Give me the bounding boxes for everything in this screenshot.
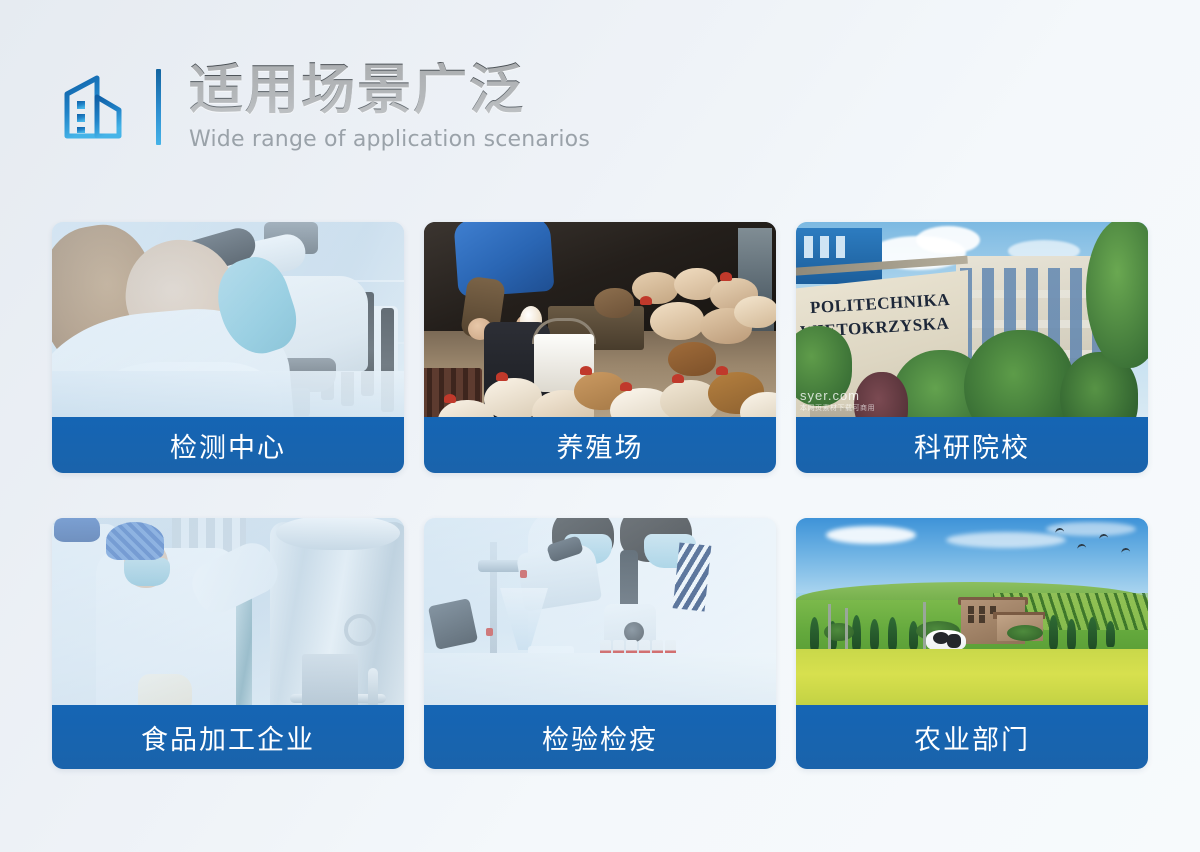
card-image-breeding-farm	[424, 222, 776, 417]
scenario-card-breeding-farm[interactable]: 养殖场	[424, 222, 776, 473]
card-caption-breeding-farm: 养殖场	[424, 417, 776, 473]
building-icon	[62, 73, 124, 141]
scenario-card-grid: 检测中心	[52, 222, 1149, 769]
card-caption-detection-center: 检测中心	[52, 417, 404, 473]
image-watermark: syer.com 本网页素材下载可商用	[800, 388, 875, 413]
card-image-agriculture-department	[796, 518, 1148, 705]
title-block: 适用场景广泛 Wide range of application scenari…	[189, 62, 590, 152]
card-image-research-institute: POLITECHNIKA WIĘTOKRZYSKA syer.com 本网页素材…	[796, 222, 1148, 417]
card-image-food-processing	[52, 518, 404, 705]
scenario-card-food-processing[interactable]: 食品加工企业	[52, 518, 404, 769]
page-root: 适用场景广泛 Wide range of application scenari…	[0, 0, 1200, 852]
title-divider	[156, 69, 161, 145]
card-caption-food-processing: 食品加工企业	[52, 705, 404, 769]
card-caption-agriculture-department: 农业部门	[796, 705, 1148, 769]
card-image-inspection-quarantine	[424, 518, 776, 705]
scenario-card-detection-center[interactable]: 检测中心	[52, 222, 404, 473]
section-header: 适用场景广泛 Wide range of application scenari…	[62, 62, 590, 152]
scenario-card-inspection-quarantine[interactable]: 检验检疫	[424, 518, 776, 769]
card-caption-inspection-quarantine: 检验检疫	[424, 705, 776, 769]
scenario-card-research-institute[interactable]: POLITECHNIKA WIĘTOKRZYSKA syer.com 本网页素材…	[796, 222, 1148, 473]
card-caption-research-institute: 科研院校	[796, 417, 1148, 473]
page-subtitle: Wide range of application scenarios	[189, 127, 590, 152]
card-image-detection-center	[52, 222, 404, 417]
page-title: 适用场景广泛	[189, 62, 590, 118]
scenario-card-agriculture-department[interactable]: 农业部门	[796, 518, 1148, 769]
